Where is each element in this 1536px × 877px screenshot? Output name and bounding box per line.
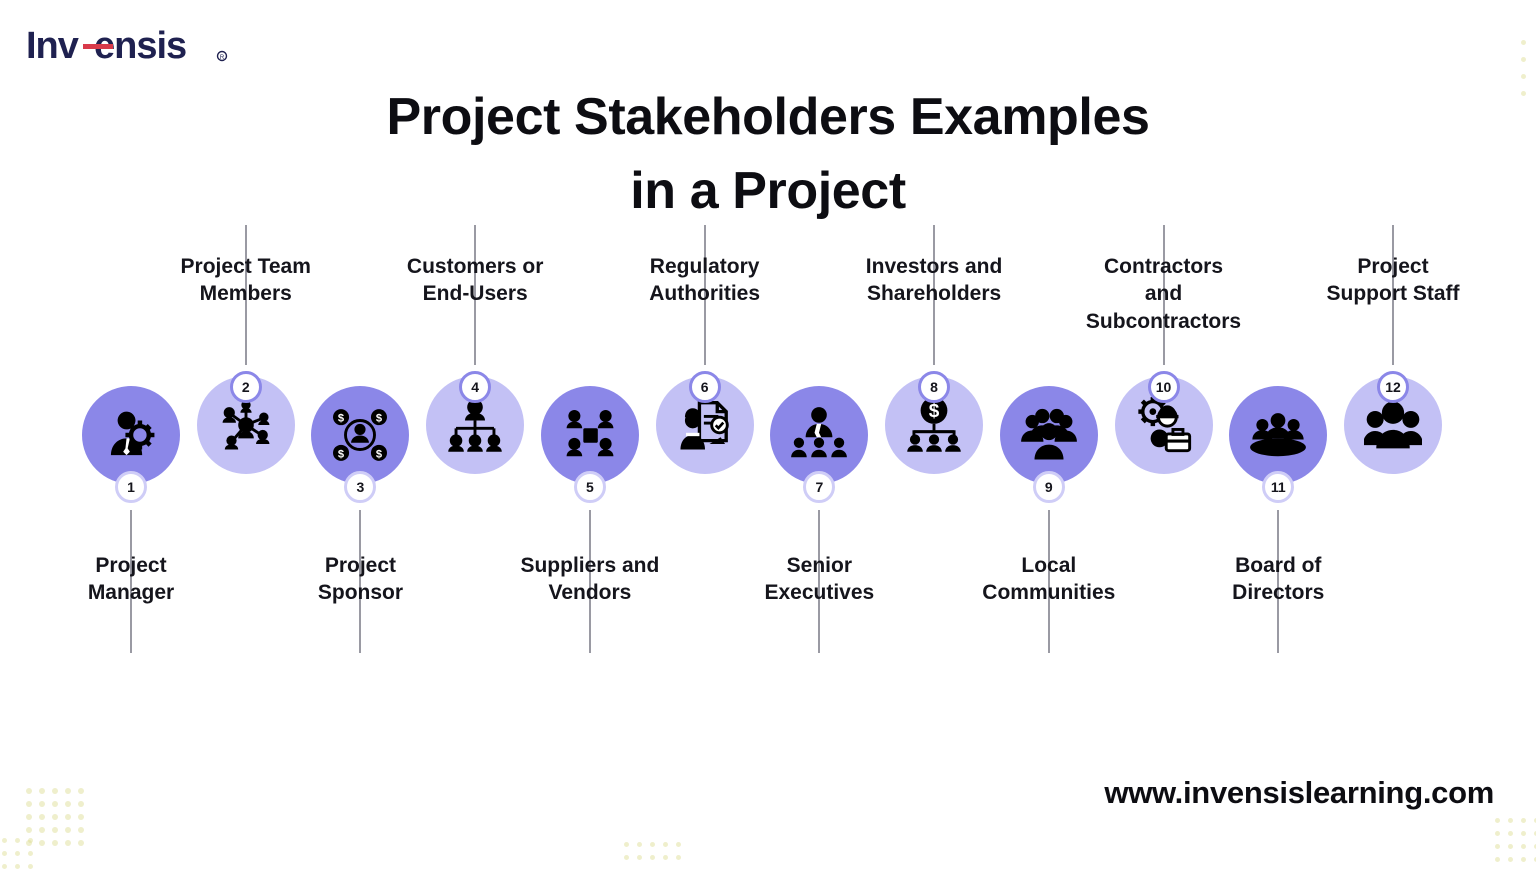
compliance-document-icon [676,396,734,454]
manager-gear-icon [102,406,160,464]
step-badge-11: 11 [1262,471,1294,503]
contractor-helmet-icon [1135,396,1193,454]
stakeholder-circle[interactable] [1229,386,1327,484]
step-badge-7: 7 [803,471,835,503]
stakeholder-item-12[interactable]: 12ProjectSupport Staff [1334,225,1452,655]
org-hierarchy-icon [446,396,504,454]
stakeholder-timeline: 1ProjectManager 2Project TeamMembers $$ … [0,225,1536,655]
svg-text:$: $ [338,413,345,425]
step-badge-10: 10 [1148,371,1180,403]
svg-text:$: $ [929,401,940,422]
dots-bottom-left-b [2,838,41,877]
stakeholder-circle[interactable] [1000,386,1098,484]
logo-red-bar [83,44,113,49]
step-badge-5: 5 [574,471,606,503]
supply-network-icon [561,406,619,464]
page-title-line-2: in a Project [0,155,1536,229]
svg-text:$: $ [338,448,345,460]
step-badge-8: 8 [918,371,950,403]
step-badge-1: 1 [115,471,147,503]
sponsor-funding-icon: $$ $$ [331,406,389,464]
dots-bottom-right [1495,818,1536,870]
stakeholder-circle[interactable] [770,386,868,484]
boardroom-table-icon [1249,406,1307,464]
executive-team-icon [790,406,848,464]
step-badge-3: 3 [344,471,376,503]
community-crowd-icon [1020,406,1078,464]
svg-text:R: R [220,55,225,61]
step-badge-4: 4 [459,371,491,403]
logo-wordmark-left: Inv [26,26,79,67]
step-badge-6: 6 [689,371,721,403]
step-badge-9: 9 [1033,471,1065,503]
support-group-icon [1364,396,1422,454]
page-title: Project Stakeholders Examples in a Proje… [0,81,1536,229]
investor-dollar-icon: $ [905,396,963,454]
page-title-line-1: Project Stakeholders Examples [387,88,1150,146]
step-badge-2: 2 [230,371,262,403]
step-badge-12: 12 [1377,371,1409,403]
invensis-logo: Inv ensis R [26,26,256,70]
svg-text:$: $ [376,413,383,425]
dots-bottom-mid [624,842,689,868]
stakeholder-circle[interactable]: $$ $$ [311,386,409,484]
team-network-icon [217,396,275,454]
dots-top-right [1521,40,1536,108]
stakeholder-circle[interactable] [541,386,639,484]
stakeholder-label: ProjectSupport Staff [1288,253,1498,308]
website-url: www.invensislearning.com [1104,775,1494,811]
stakeholder-circle[interactable] [82,386,180,484]
svg-text:$: $ [376,448,383,460]
